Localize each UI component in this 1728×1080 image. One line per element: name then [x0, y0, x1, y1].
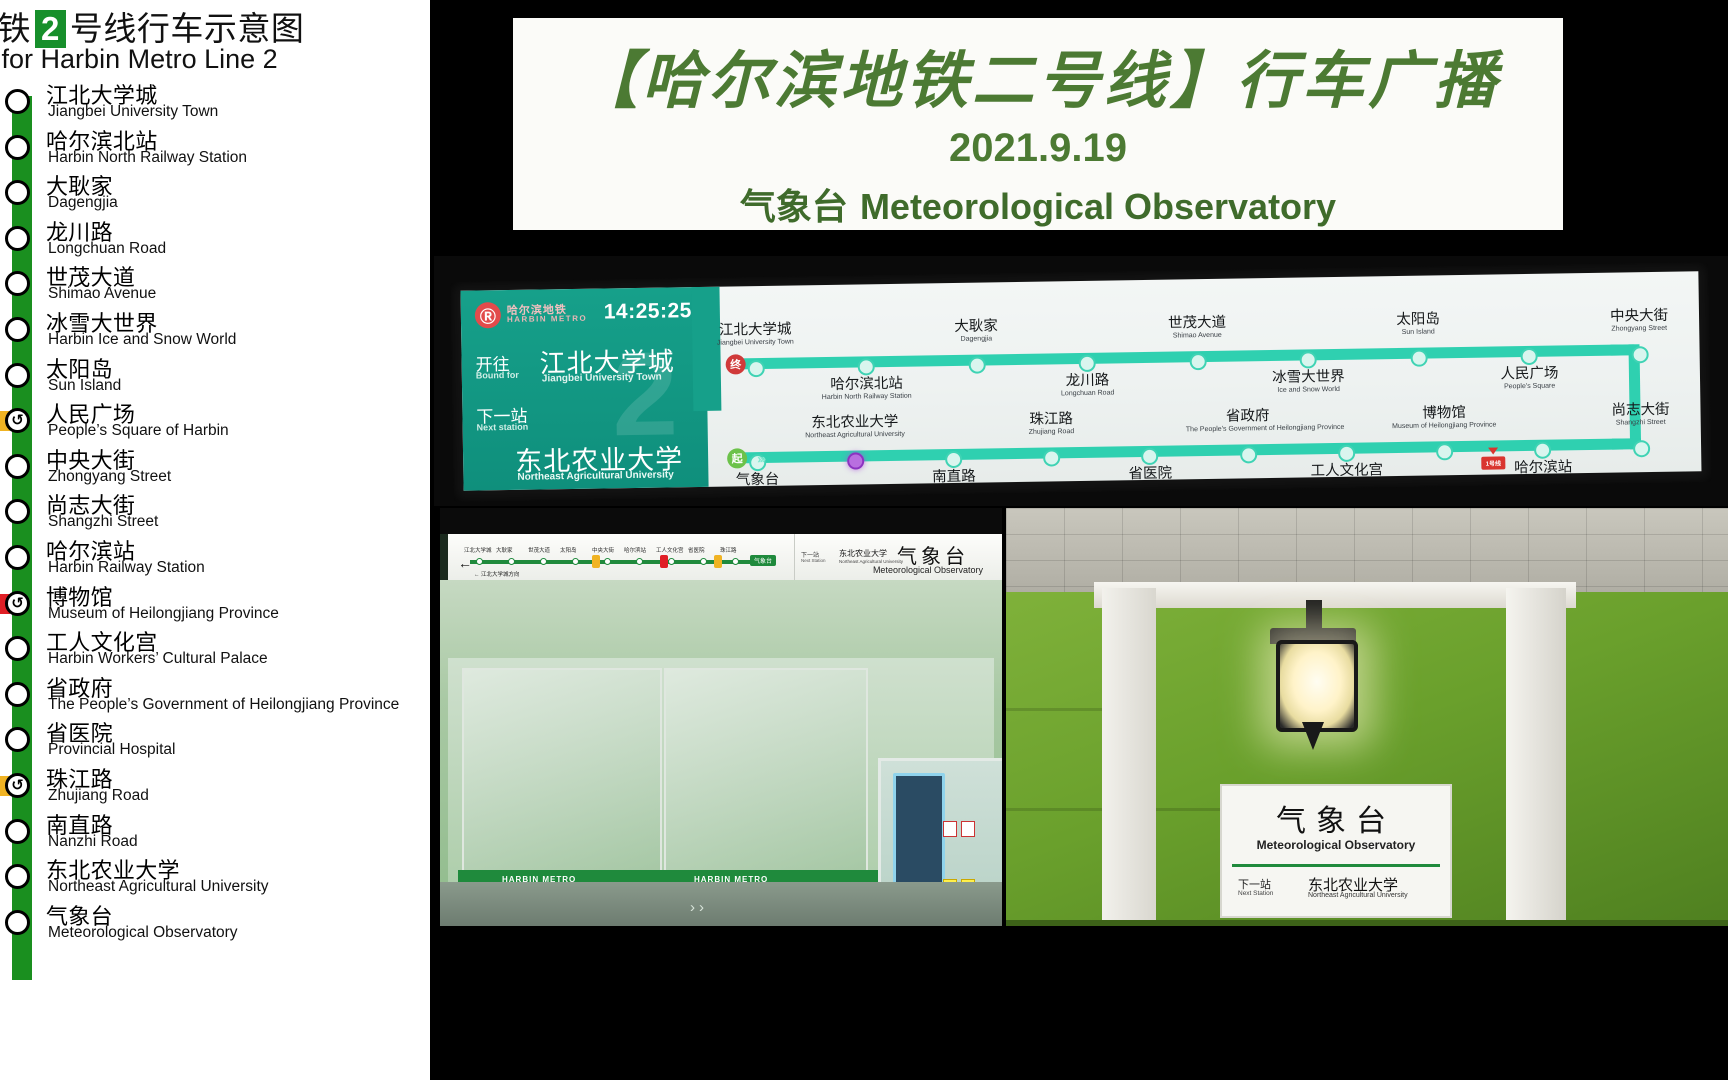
route-station-en: Museum of Heilongjiang Province — [1382, 422, 1506, 431]
sidebar-title-cn-pre: 地铁 — [0, 10, 31, 47]
strip-station-label: 江北大学城 — [464, 546, 492, 554]
banner-station: 气象台Meteorological Observatory — [513, 178, 1563, 230]
platform-wall: HARBIN METRO HARBIN METRO ›› — [440, 580, 1002, 926]
station-dot-icon — [5, 864, 30, 889]
strip-interchange-yellow-1 — [592, 555, 600, 568]
station-dot-icon — [5, 454, 30, 479]
station-dot-icon — [5, 727, 30, 752]
route-station-en: Provincial Hospital — [1088, 482, 1212, 491]
route-station-en: Shangzhi Street — [1579, 418, 1702, 427]
station-name-en: Jiangbei University Town — [48, 103, 218, 121]
interchange-pointer-icon — [1488, 447, 1498, 454]
line-number-badge: 2 — [35, 10, 66, 48]
platform-photo: ← ← 江北大学城方向 江北大学城大耿家世茂大道太阳岛中央大街哈尔滨站工人文化宫… — [440, 508, 1002, 926]
route-station-en: Workers' Cultural Palace — [1285, 479, 1409, 488]
banner-title: 【哈尔滨地铁二号线】行车广播 — [513, 30, 1563, 120]
lcd-screen: Ⓡ 哈尔滨地铁 HARBIN METRO 14:25:25 2 开往 Bound… — [460, 271, 1701, 490]
station-name-en: Harbin Railway Station — [48, 559, 205, 577]
station-name-en: Museum of Heilongjiang Province — [48, 605, 279, 623]
route-station-cn: 省医院 — [1088, 466, 1212, 483]
platform-signboard: ← ← 江北大学城方向 江北大学城大耿家世茂大道太阳岛中央大街哈尔滨站工人文化宫… — [448, 534, 1002, 581]
strip-station-label: 大耿家 — [496, 546, 513, 554]
terminus-marker: 终 — [726, 354, 746, 374]
route-station-dot[interactable] — [1631, 346, 1648, 363]
platform-ceiling — [440, 508, 1002, 534]
route-station-cn: 世茂大道 — [1135, 315, 1259, 332]
strip-station-dot — [476, 558, 483, 565]
route-station-dot[interactable] — [1338, 445, 1355, 462]
route-station-label: 人民广场People's Square — [1467, 366, 1591, 391]
route-station-dot[interactable] — [1141, 448, 1158, 465]
route-station-en: People's Square — [1468, 382, 1592, 391]
route-station-en: Nanzhi Road — [892, 485, 1016, 490]
strip-map-line — [470, 560, 770, 564]
route-row-bottom: 气象台Meteorological Observatory东北农业大学North… — [708, 271, 1698, 287]
route-station-cn: 人民广场 — [1467, 366, 1591, 383]
route-station-cn: 龙川路 — [1025, 373, 1149, 390]
route-station-label: 龙川路Longchuan Road — [1025, 373, 1149, 398]
strip-station-label: 省医院 — [688, 546, 705, 554]
route-station-cn: 哈尔滨北站 — [804, 376, 928, 393]
route-station-cn: 冰雪大世界 — [1246, 369, 1370, 386]
station-dot-icon — [5, 910, 30, 935]
route-station-dot[interactable] — [747, 360, 764, 377]
station-dot-icon — [5, 363, 30, 388]
route-station-dot[interactable] — [1079, 355, 1096, 372]
station-dot-icon — [5, 819, 30, 844]
route-station-cn: 中央大街 — [1577, 308, 1701, 325]
platform-floor: ›› — [440, 882, 1002, 926]
route-row-top: 江北大学城Jiangbei University Town哈尔滨北站Harbin… — [708, 271, 1698, 287]
route-station-dot[interactable] — [1632, 440, 1649, 457]
station-name-en: Nanzhi Road — [48, 833, 138, 851]
route-station-label: 世茂大道Shimao Avenue — [1135, 315, 1259, 340]
psd-glass-panel-2 — [664, 668, 868, 872]
route-station-en: Zhujiang Road — [989, 428, 1113, 437]
route-station-en: Harbin Railway Station — [1481, 476, 1605, 485]
route-station-cn: 工人文化宫 — [1285, 463, 1409, 480]
lcd-route-map: 终 起 ››› 1号线 江北大学城Jiangbei University Tow… — [708, 271, 1701, 487]
banner-date: 2021.9.19 — [513, 126, 1563, 171]
banner-station-cn: 气象台 — [740, 186, 848, 227]
route-station-dot[interactable] — [1534, 442, 1551, 459]
route-station-cn: 南直路 — [892, 469, 1016, 486]
decorative-column-right — [1506, 588, 1566, 926]
origin-marker: 起 — [727, 448, 747, 468]
wall-seam-3 — [1156, 808, 1228, 811]
route-station-cn: 尚志大街 — [1578, 402, 1701, 419]
strip-interchange-yellow-2 — [714, 555, 722, 568]
sidebar-title-en: on for Harbin Metro Line 2 — [0, 44, 278, 75]
station-name-en: Harbin North Railway Station — [48, 149, 247, 167]
banner-station-en: Meteorological Observatory — [860, 186, 1336, 227]
station-dot-icon — [5, 317, 30, 342]
route-station-en: Sun Island — [1356, 328, 1480, 337]
station-name-en: Zhongyang Street — [48, 468, 171, 486]
station-name-en: Harbin Ice and Snow World — [48, 331, 236, 349]
station-dot-icon — [5, 180, 30, 205]
route-station-cn: 博物馆 — [1382, 405, 1506, 422]
route-station-label: 冰雪大世界Ice and Snow World — [1246, 369, 1370, 394]
wall-base-line — [1006, 920, 1728, 926]
route-station-label: 大耿家Dagengjia — [914, 319, 1038, 344]
route-station-label: 哈尔滨北站Harbin North Railway Station — [804, 376, 928, 401]
station-name-en: The People’s Government of Heilongjiang … — [48, 696, 399, 714]
lcd-info-panel: Ⓡ 哈尔滨地铁 HARBIN METRO 14:25:25 2 开往 Bound… — [460, 287, 708, 491]
strip-station-label: 中央大街 — [592, 546, 614, 554]
station-list: 江北大学城Jiangbei University Town哈尔滨北站Harbin… — [0, 84, 430, 950]
platform-strip-map: ← ← 江北大学城方向 江北大学城大耿家世茂大道太阳岛中央大街哈尔滨站工人文化宫… — [452, 534, 788, 580]
strip-station-label: 太阳岛 — [560, 546, 577, 554]
station-name-en: Shangzhi Street — [48, 513, 158, 531]
title-banner: 【哈尔滨地铁二号线】行车广播 2021.9.19 气象台Meteorologic… — [513, 18, 1563, 230]
strip-interchange-red — [660, 555, 668, 568]
ceiling-grid — [1006, 508, 1728, 592]
strip-station-dot — [700, 558, 707, 565]
route-station-dot[interactable] — [945, 451, 962, 468]
route-station-cn: 大耿家 — [914, 319, 1038, 336]
station-dot-icon — [5, 682, 30, 707]
station-ceiling — [1006, 508, 1728, 592]
route-station-label: 中央大街Zhongyang Street — [1577, 308, 1701, 333]
strip-station-dot — [572, 558, 579, 565]
lcd-clock: 14:25:25 — [604, 299, 692, 324]
decorative-column-left — [1102, 588, 1156, 926]
station-name-en: Sun Island — [48, 377, 121, 395]
bound-for-value-en: Jiangbei University Town — [542, 372, 662, 385]
bound-for-label-en: Bound for — [476, 370, 519, 381]
harbin-metro-logo-icon: Ⓡ — [475, 302, 501, 328]
route-station-en: Meteorological Observatory — [696, 488, 820, 490]
route-station-dot[interactable] — [1521, 348, 1538, 365]
wall-sign-cn: 气象台 — [1222, 796, 1450, 840]
strip-station-dot — [540, 558, 547, 565]
door-warning-sticker-2 — [961, 821, 975, 837]
direction-arrow-icon: ← — [458, 556, 472, 570]
current-station-badge: 气象台 — [750, 555, 776, 566]
station-name-sign: 气象台 Meteorological Observatory 下一站 Next … — [1220, 784, 1452, 918]
route-station-dot[interactable] — [847, 452, 864, 469]
route-station-dot[interactable] — [858, 358, 875, 375]
wall-sign-en: Meteorological Observatory — [1222, 838, 1450, 852]
station-dot-icon — [5, 135, 30, 160]
station-dot-icon — [5, 271, 30, 296]
platform-next-cn: 东北农业大学 — [839, 548, 887, 559]
psd-glass-panel-1 — [462, 668, 662, 872]
route-station-cn: 江北大学城 — [693, 322, 817, 339]
route-station-en: Dagengjia — [914, 335, 1038, 344]
door-warning-sticker-1 — [943, 821, 957, 837]
route-station-dot[interactable] — [1043, 449, 1060, 466]
strip-station-label: 工人文化宫 — [656, 546, 684, 554]
route-station-en: Northeast Agricultural University — [793, 431, 917, 440]
strip-station-label: 哈尔滨站 — [624, 546, 646, 554]
route-station-label: 省医院Provincial Hospital — [1088, 466, 1212, 491]
station-name-en: Provincial Hospital — [48, 741, 176, 759]
route-station-cn: 珠江路 — [989, 411, 1113, 428]
strip-station-dot — [732, 558, 739, 565]
route-station-label: 气象台Meteorological Observatory — [695, 472, 819, 491]
lcd-bezel: Ⓡ 哈尔滨地铁 HARBIN METRO 14:25:25 2 开往 Bound… — [450, 262, 1711, 502]
route-station-cn: 太阳岛 — [1356, 312, 1480, 329]
route-station-label: 尚志大街Shangzhi Street — [1578, 402, 1701, 427]
route-station-label: 工人文化宫Workers' Cultural Palace — [1285, 463, 1409, 488]
station-name-en: Dagengjia — [48, 194, 118, 212]
strip-station-dot — [508, 558, 515, 565]
wall-seam-2 — [1006, 808, 1102, 811]
route-station-en: The People's Government of Heilongjiang … — [1186, 425, 1310, 434]
floor-chevron-icon: ›› — [690, 899, 708, 916]
station-dot-icon — [5, 89, 30, 114]
platform-next-en: Northeast Agricultural University — [839, 559, 903, 564]
station-wall-photo: 气象台 Meteorological Observatory 下一站 Next … — [1006, 508, 1728, 926]
route-station-label: 省政府The People's Government of Heilongjia… — [1186, 408, 1310, 433]
route-station-cn: 省政府 — [1186, 408, 1310, 425]
line-diagram-sidebar: 地铁2号线行车示意图 on for Harbin Metro Line 2 江北… — [0, 0, 430, 1080]
decorative-lintel — [1094, 582, 1576, 608]
wall-sign-divider — [1232, 864, 1440, 867]
route-station-cn: 气象台 — [695, 472, 819, 489]
direction-text: ← 江北大学城方向 — [474, 570, 520, 578]
route-station-label: 珠江路Zhujiang Road — [989, 411, 1113, 436]
station-name-en: Harbin Workers’ Cultural Palace — [48, 650, 268, 668]
station-name-en: Longchuan Road — [48, 240, 166, 258]
platform-next-label-en: Next Station — [801, 558, 826, 563]
next-station-value-en: Northeast Agricultural University — [517, 469, 673, 482]
route-station-en: Shimao Avenue — [1135, 331, 1259, 340]
interchange-icon: ↺ — [5, 773, 30, 798]
station-name-en: Shimao Avenue — [48, 285, 156, 303]
route-station-label: 博物馆Museum of Heilongjiang Province — [1382, 405, 1506, 430]
wall-next-en: Northeast Agricultural University — [1308, 892, 1408, 899]
route-station-dot[interactable] — [968, 357, 985, 374]
strip-station-dot — [604, 558, 611, 565]
station-dot-icon — [5, 499, 30, 524]
station-dot-icon — [5, 226, 30, 251]
interchange-icon: ↺ — [5, 408, 30, 433]
route-station-label: 太阳岛Sun Island — [1356, 312, 1480, 337]
strip-station-label: 珠江路 — [720, 546, 737, 554]
wall-seam-1 — [1006, 708, 1102, 711]
route-station-dot[interactable] — [1300, 351, 1317, 368]
sidebar-title-cn: 地铁2号线行车示意图 — [0, 2, 304, 50]
direction-arrows-icon: ››› — [757, 451, 764, 466]
station-dot-icon — [5, 636, 30, 661]
platform-next-station-panel: 下一站 Next Station 东北农业大学 Northeast Agricu… — [794, 534, 1002, 580]
station-name-en: Zhujiang Road — [48, 787, 149, 805]
strip-station-dot — [668, 558, 675, 565]
route-station-dot[interactable] — [1240, 446, 1257, 463]
route-station-en: Harbin North Railway Station — [805, 393, 929, 402]
station-name-en: Northeast Agricultural University — [48, 878, 269, 896]
screen-root: 地铁2号线行车示意图 on for Harbin Metro Line 2 江北… — [0, 0, 1728, 1080]
route-station-en: Jiangbei University Town — [693, 338, 817, 347]
route-station-dot[interactable] — [1189, 353, 1206, 370]
route-station-en: Ice and Snow World — [1247, 386, 1371, 395]
wall-lamp-icon — [1276, 640, 1358, 732]
station-name-en: Meteorological Observatory — [48, 924, 238, 942]
route-station-cn: 东北农业大学 — [793, 415, 917, 432]
route-station-dot[interactable] — [1410, 350, 1427, 367]
train-lcd-photo: Ⓡ 哈尔滨地铁 HARBIN METRO 14:25:25 2 开往 Bound… — [434, 256, 1728, 506]
line1-interchange-badge: 1号线 — [1481, 456, 1505, 469]
station-dot-icon — [5, 545, 30, 570]
interchange-icon: ↺ — [5, 591, 30, 616]
route-station-dot[interactable] — [1436, 443, 1453, 460]
next-station-label-en: Next station — [477, 422, 529, 433]
station-name-en: People’s Square of Harbin — [48, 422, 229, 440]
sidebar-title-cn-post: 号线行车示意图 — [70, 10, 305, 47]
station-row[interactable]: 气象台Meteorological Observatory — [0, 905, 430, 951]
route-station-en: Zhongyang Street — [1577, 324, 1701, 333]
route-station-label: 东北农业大学Northeast Agricultural University — [793, 415, 917, 440]
strip-station-label: 世茂大道 — [528, 546, 550, 554]
brand-name-en: HARBIN METRO — [507, 314, 587, 324]
strip-station-dot — [636, 558, 643, 565]
route-station-en: Longchuan Road — [1026, 389, 1150, 398]
route-station-label: 江北大学城Jiangbei University Town — [693, 322, 817, 347]
route-station-label: 南直路Nanzhi Road — [892, 469, 1016, 491]
platform-station-name-en: Meteorological Observatory — [873, 565, 983, 575]
wall-next-label-en: Next Station — [1238, 890, 1273, 897]
